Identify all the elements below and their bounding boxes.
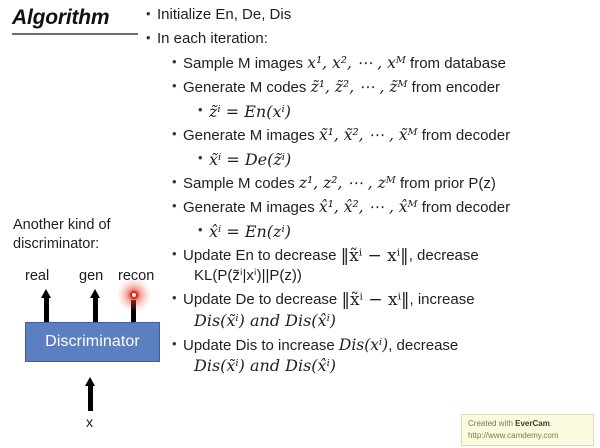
bullet-text-prefix: Generate M images bbox=[183, 199, 319, 216]
slide-title-block: Algorithm bbox=[12, 6, 140, 35]
bullet-dot-icon: • bbox=[146, 6, 157, 23]
bullet-math: z̃¹, z̃², ⋯ , z̃ᴹ bbox=[311, 78, 408, 96]
bullet-text: Generate M images x̂¹, x̂², ⋯ , x̂ᴹ from… bbox=[183, 198, 598, 218]
arrow-up-real-icon bbox=[41, 289, 51, 323]
output-label-real: real bbox=[25, 268, 49, 284]
slide-canvas: Algorithm Another kind of discriminator:… bbox=[0, 0, 600, 448]
bullet-math-norm: ‖x̃ⁱ − xⁱ‖ bbox=[341, 246, 409, 266]
watermark-brand: EverCam bbox=[515, 419, 550, 428]
bullet-dot-icon: • bbox=[172, 54, 183, 71]
list-item: • Sample M codes z¹, z², ⋯ , zᴹ from pri… bbox=[172, 174, 598, 194]
bullet-dot-icon: • bbox=[172, 126, 183, 143]
laser-core bbox=[130, 291, 138, 299]
bullet-text: Generate M images x̃¹, x̃², ⋯ , x̃ᴹ from… bbox=[183, 126, 598, 146]
bullet-dot-icon: • bbox=[172, 336, 183, 353]
bullet-dot-icon: • bbox=[172, 290, 183, 307]
watermark-url: http://www.camdemy.com bbox=[468, 430, 588, 442]
bullet-text: Update En to decrease ‖x̃ⁱ − xⁱ‖, decrea… bbox=[183, 246, 598, 286]
bullet-text: Update Dis to increase Dis(xⁱ), decrease… bbox=[183, 336, 598, 377]
bullet-dot-icon: • bbox=[198, 222, 209, 239]
title-underline bbox=[12, 33, 138, 35]
list-item: • Initialize En, De, Dis bbox=[146, 6, 598, 25]
bullet-dot-icon: • bbox=[198, 150, 209, 167]
diagram-caption: Another kind of discriminator: bbox=[13, 216, 153, 255]
evercam-watermark: Created with EverCam. http://www.camdemy… bbox=[461, 414, 594, 446]
bullet-math: Dis(xⁱ) bbox=[339, 336, 388, 354]
list-item: • Update En to decrease ‖x̃ⁱ − xⁱ‖, decr… bbox=[172, 246, 598, 286]
list-item: • In each iteration: bbox=[146, 30, 598, 49]
bullet-text-prefix: Sample M images bbox=[183, 55, 307, 72]
equation-text: x̂ⁱ = En(zⁱ) bbox=[209, 222, 598, 242]
bullet-text: In each iteration: bbox=[157, 30, 598, 49]
bullet-text-line2: Dis(x̃ⁱ) and Dis(x̂ⁱ) bbox=[194, 356, 336, 375]
bullet-text-suffix: from database bbox=[406, 55, 506, 72]
list-item: • x̂ⁱ = En(zⁱ) bbox=[198, 222, 598, 242]
list-item: • Generate M images x̃¹, x̃², ⋯ , x̃ᴹ fr… bbox=[172, 126, 598, 146]
bullet-math: x¹, x², ⋯ , xᴹ bbox=[307, 54, 406, 72]
bullet-text-prefix: Update En to decrease bbox=[183, 247, 341, 264]
arrowshaft bbox=[88, 385, 93, 411]
bullet-text: Initialize En, De, Dis bbox=[157, 6, 598, 25]
discriminator-box-label: Discriminator bbox=[45, 333, 140, 351]
bullet-text-prefix: Sample M codes bbox=[183, 175, 299, 192]
bullet-text-suffix: from encoder bbox=[408, 79, 501, 96]
algorithm-bullet-list: • Initialize En, De, Dis • In each itera… bbox=[146, 6, 598, 381]
arrowshaft bbox=[44, 297, 49, 323]
list-item: • z̃ⁱ = En(xⁱ) bbox=[198, 102, 598, 122]
bullet-dot-icon: • bbox=[146, 30, 157, 47]
bullet-math: x̃¹, x̃², ⋯ , x̃ᴹ bbox=[319, 126, 418, 144]
bullet-text-line2: Dis(x̃ⁱ) and Dis(x̂ⁱ) bbox=[194, 311, 336, 330]
watermark-line-1: Created with EverCam. bbox=[468, 418, 588, 430]
bullet-text-prefix: Update De to decrease bbox=[183, 291, 341, 308]
arrow-up-input-icon bbox=[85, 377, 95, 411]
bullet-text-suffix: from decoder bbox=[418, 199, 511, 216]
bullet-dot-icon: • bbox=[172, 78, 183, 95]
bullet-dot-icon: • bbox=[198, 102, 209, 119]
list-item: • Update De to decrease ‖x̃ⁱ − xⁱ‖, incr… bbox=[172, 290, 598, 332]
bullet-text-prefix: Generate M codes bbox=[183, 79, 311, 96]
bullet-text-line2: KL(P(z̃ⁱ|xⁱ)||P(z)) bbox=[194, 267, 302, 284]
bullet-dot-icon: • bbox=[172, 246, 183, 263]
bullet-text: Generate M codes z̃¹, z̃², ⋯ , z̃ᴹ from … bbox=[183, 78, 598, 98]
bullet-text-suffix: , decrease bbox=[388, 337, 458, 354]
bullet-text-suffix: from prior P(z) bbox=[396, 175, 496, 192]
list-item: • Sample M images x¹, x², ⋯ , xᴹ from da… bbox=[172, 54, 598, 74]
page-title: Algorithm bbox=[12, 6, 140, 30]
bullet-text-suffix: from decoder bbox=[418, 127, 511, 144]
discriminator-box: Discriminator bbox=[25, 322, 160, 362]
bullet-text-prefix: Generate M images bbox=[183, 127, 319, 144]
list-item: • Generate M images x̂¹, x̂², ⋯ , x̂ᴹ fr… bbox=[172, 198, 598, 218]
watermark-prefix: Created with bbox=[468, 419, 515, 428]
arrow-up-gen-icon bbox=[90, 289, 100, 323]
bullet-dot-icon: • bbox=[172, 174, 183, 191]
watermark-suffix: . bbox=[550, 419, 552, 428]
equation-text: x̃ⁱ = De(z̃ⁱ) bbox=[209, 150, 598, 170]
bullet-math: x̂¹, x̂², ⋯ , x̂ᴹ bbox=[319, 198, 418, 216]
bullet-text-suffix: , increase bbox=[410, 291, 475, 308]
list-item: • Update Dis to increase Dis(xⁱ), decrea… bbox=[172, 336, 598, 377]
bullet-text-prefix: Update Dis to increase bbox=[183, 337, 339, 354]
equation-text: z̃ⁱ = En(xⁱ) bbox=[209, 102, 598, 122]
bullet-text: Sample M codes z¹, z², ⋯ , zᴹ from prior… bbox=[183, 174, 598, 194]
bullet-math: z¹, z², ⋯ , zᴹ bbox=[299, 174, 396, 192]
bullet-text: Sample M images x¹, x², ⋯ , xᴹ from data… bbox=[183, 54, 598, 74]
bullet-text: Update De to decrease ‖x̃ⁱ − xⁱ‖, increa… bbox=[183, 290, 598, 332]
bullet-math-norm: ‖x̃ⁱ − xⁱ‖ bbox=[341, 290, 409, 310]
bullet-dot-icon: • bbox=[172, 198, 183, 215]
input-label-x: x bbox=[86, 414, 93, 430]
list-item: • x̃ⁱ = De(z̃ⁱ) bbox=[198, 150, 598, 170]
output-label-gen: gen bbox=[79, 268, 103, 284]
list-item: • Generate M codes z̃¹, z̃², ⋯ , z̃ᴹ fro… bbox=[172, 78, 598, 98]
bullet-text-suffix: , decrease bbox=[409, 247, 479, 264]
arrowshaft bbox=[93, 297, 98, 323]
